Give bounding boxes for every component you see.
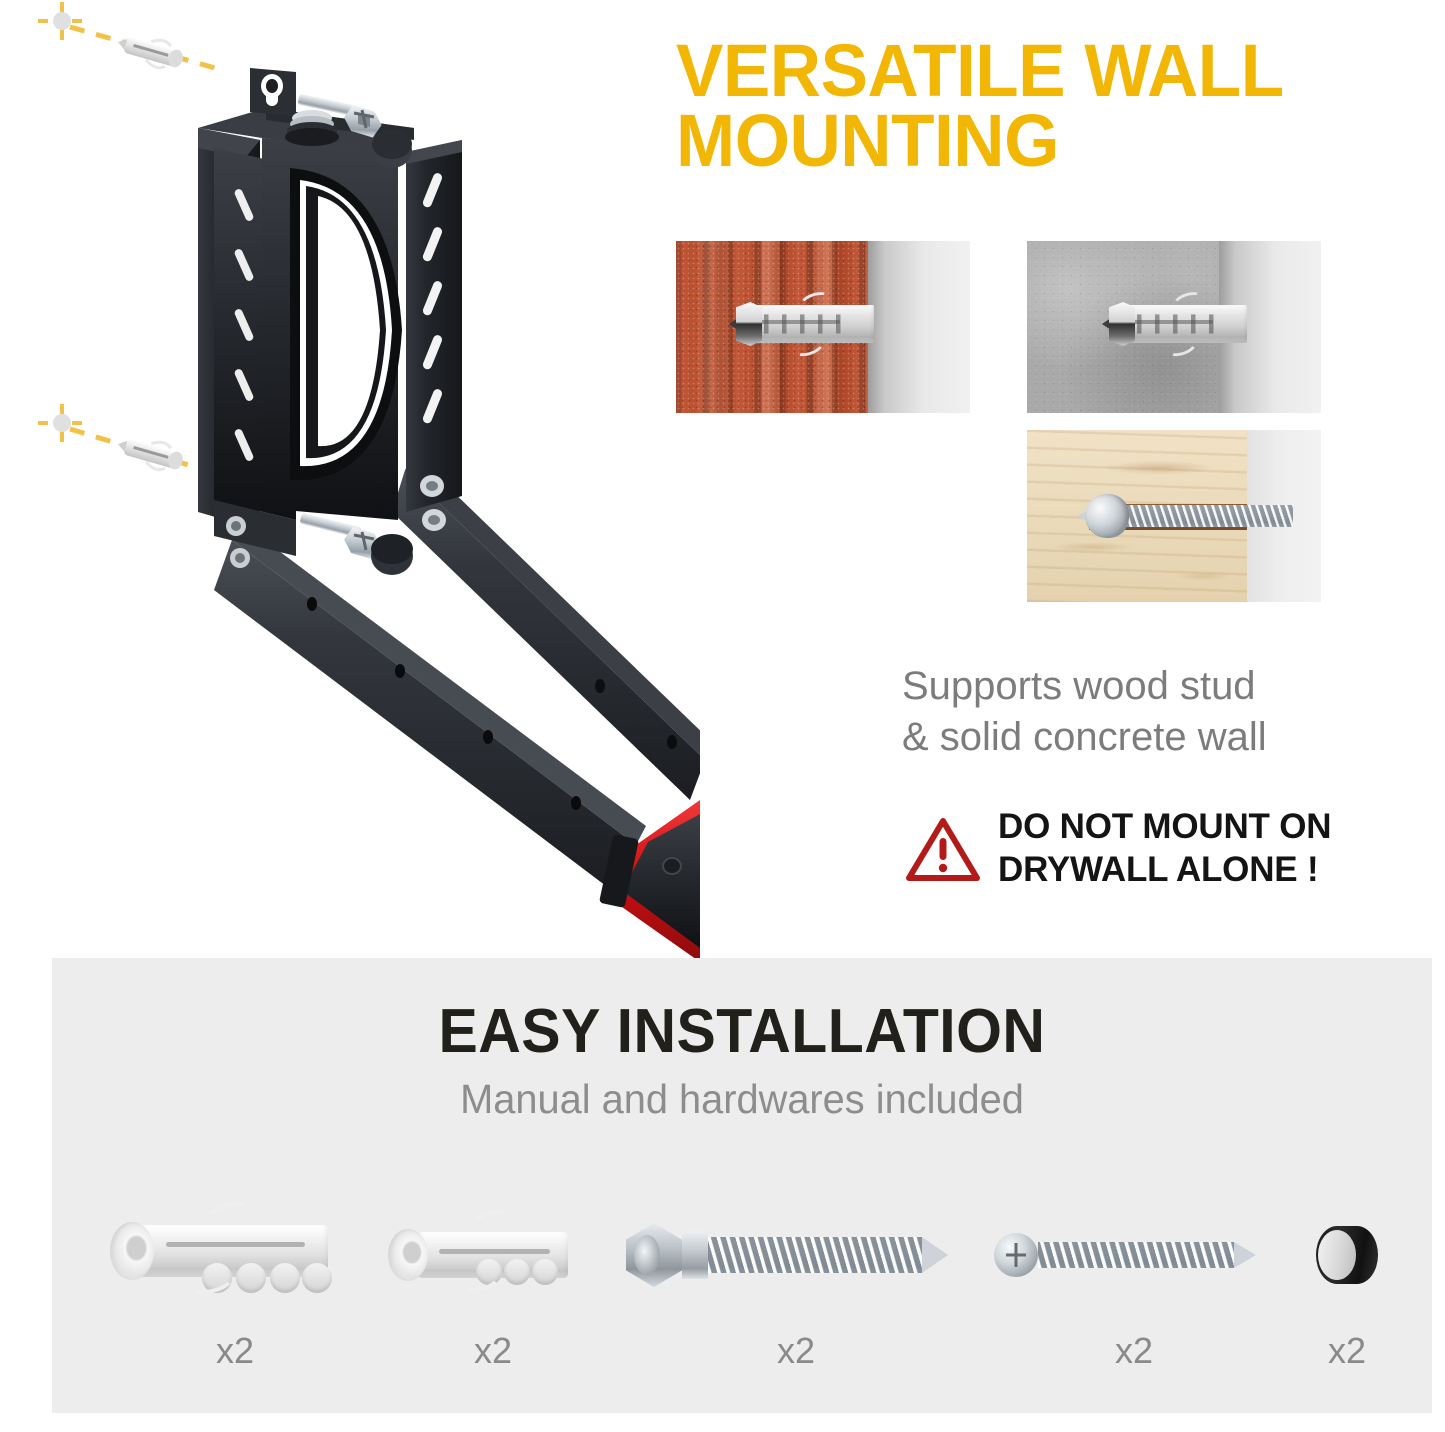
brick-air-gap xyxy=(868,241,970,413)
bolt-tip xyxy=(922,1237,948,1273)
floating-anchor-bottom xyxy=(114,431,186,476)
screw-pan-head xyxy=(1085,494,1129,538)
hardware-list: x2 x2 xyxy=(52,1196,1432,1376)
bolt-collar xyxy=(682,1231,708,1279)
brick-wall-swatch xyxy=(676,241,970,413)
warning-text: DO NOT MOUNT ON DRYWALL ALONE ! xyxy=(998,806,1331,891)
adjust-post xyxy=(285,110,339,146)
screw-tip xyxy=(1234,1242,1256,1268)
anchor-ribs xyxy=(764,308,850,340)
hardware-item-small-anchor: x2 xyxy=(388,1196,598,1372)
supports-text: Supports wood stud & solid concrete wall xyxy=(902,661,1402,763)
anchor-lobe xyxy=(236,1263,266,1293)
lower-hex-bolt xyxy=(299,513,382,560)
hardware-item-cap-knob: x2 xyxy=(1302,1196,1392,1372)
hex-head xyxy=(626,1223,682,1287)
large-plastic-anchor-art xyxy=(110,1196,360,1314)
hardware-qty: x2 xyxy=(777,1330,815,1372)
installation-title: EASY INSTALLATION xyxy=(87,996,1398,1067)
pivot-knob-upper xyxy=(372,129,412,168)
hardware-item-large-anchor: x2 xyxy=(110,1196,360,1372)
hardware-item-pan-screw: x2 xyxy=(994,1196,1274,1372)
floating-anchor-top xyxy=(114,29,186,74)
anchor-collar xyxy=(736,302,762,346)
infographic-page: VERSATILE WALL MOUNTING xyxy=(0,0,1445,1432)
pan-head xyxy=(994,1233,1038,1277)
anchor-lobe xyxy=(302,1263,332,1293)
warning-triangle-icon xyxy=(906,816,980,882)
hex-lag-bolt-art xyxy=(626,1196,966,1314)
wood-wall-swatch xyxy=(1027,430,1321,602)
installation-subtitle: Manual and hardwares included xyxy=(73,1076,1412,1123)
product-illustration xyxy=(0,0,700,960)
concrete-wall-swatch xyxy=(1027,241,1321,413)
warning-block: DO NOT MOUNT ON DRYWALL ALONE ! xyxy=(906,806,1396,891)
mount-guide-line-bottom xyxy=(38,404,218,476)
anchor-lobe xyxy=(270,1263,300,1293)
pan-head-screw-art xyxy=(994,1196,1274,1314)
hardware-item-hex-bolt: x2 xyxy=(626,1196,966,1372)
small-plastic-anchor-art xyxy=(388,1196,598,1314)
mount-guide-line-top xyxy=(38,2,215,74)
bracket-main-body xyxy=(198,68,462,575)
bolt-threads xyxy=(708,1237,922,1273)
anchor-flange xyxy=(110,1222,154,1280)
phillips-slot-icon xyxy=(638,1243,656,1267)
hardware-qty: x2 xyxy=(474,1330,512,1372)
hardware-qty: x2 xyxy=(216,1330,254,1372)
screw-threads xyxy=(1038,1242,1234,1268)
hardware-qty: x2 xyxy=(1115,1330,1153,1372)
cap-knob xyxy=(1316,1226,1378,1284)
anchor-ribs xyxy=(1137,308,1223,340)
black-cap-knob-art xyxy=(1302,1196,1392,1314)
anchor-flange xyxy=(388,1229,428,1281)
anchor-lobe xyxy=(504,1259,530,1285)
thumb-knob xyxy=(371,534,413,575)
easy-installation-panel: EASY INSTALLATION Manual and hardwares i… xyxy=(52,958,1432,1413)
page-title: VERSATILE WALL MOUNTING xyxy=(676,36,1408,175)
anchor-collar xyxy=(1109,302,1135,346)
anchor-lobe xyxy=(532,1259,558,1285)
anchor-body xyxy=(140,1225,328,1277)
hardware-qty: x2 xyxy=(1328,1330,1366,1372)
